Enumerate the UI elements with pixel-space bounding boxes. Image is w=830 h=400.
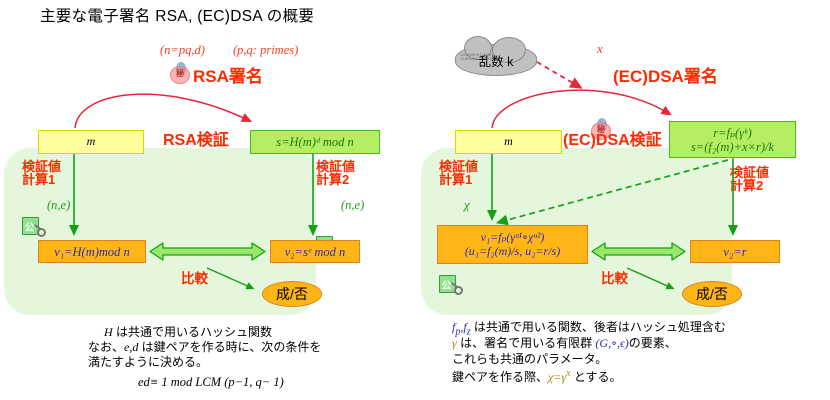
page-title: 主要な電子署名 RSA, (EC)DSA の概要 <box>40 4 314 26</box>
ecdsa-compare-label: 比較 <box>601 267 628 287</box>
ecdsa-v1-line2: (u₁=f₂(m)/s, u₂=r/s) <box>465 245 560 258</box>
ecdsa-note-line-4: 鍵ペアを作る際、χ=γx とする。 <box>452 368 622 385</box>
rsa-pubkey1-label: (n,e) <box>47 198 70 213</box>
rsa-key-params-right: (p,q: primes) <box>233 43 298 58</box>
ecdsa-result-ellipse: 成/否 <box>682 281 742 307</box>
ecdsa-calc2-label: 検証値 計算2 <box>730 166 769 193</box>
ecdsa-secret-x-label: x <box>597 41 603 57</box>
ecdsa-v1-line1: v₁=fₚ(γᵘ¹∘χᵘ²) <box>481 231 545 244</box>
random-cloud-label: 乱数 k <box>456 51 536 70</box>
ecdsa-v1-box: v₁=fₚ(γᵘ¹∘χᵘ²) (u₁=f₂(m)/s, u₂=r/s) <box>437 225 588 264</box>
random-number-cloud: 101100101100011100100110101 乱数 k <box>455 44 537 76</box>
rsa-compare-label: 比較 <box>181 267 208 287</box>
rsa-calc2-label: 検証値 計算2 <box>316 160 355 187</box>
ecdsa-verification-label: (EC)DSA検証 <box>563 126 662 150</box>
rsa-result-ellipse: 成/否 <box>262 281 322 307</box>
rsa-pubkey2-label: (n,e) <box>341 198 364 213</box>
rsa-note-line-1: H は共通で用いるハッシュ関数 <box>104 325 272 340</box>
rsa-v2-box: v₂=sᵉ mod n <box>270 240 360 263</box>
rsa-note-line-3: 満たすように決める。 <box>88 355 208 370</box>
ecdsa-message-box: m <box>455 130 562 154</box>
rsa-signature-box: s=H(m)ᵈ mod n <box>250 130 380 154</box>
rsa-note-line-2: なお、e,d は鍵ペアを作る時に、次の条件を <box>88 340 321 355</box>
rsa-key-params-left: (n=pq,d) <box>160 43 205 58</box>
ecdsa-signature-label: (EC)DSA署名 <box>613 62 718 87</box>
rsa-message-box: m <box>38 130 144 154</box>
ecdsa-note-line-2: γ は、署名で用いる有限群 (G,∘,ϵ)の要素、 <box>452 336 677 351</box>
ecdsa-calc1-label: 検証値 計算1 <box>439 160 478 187</box>
ecdsa-note-line-3: これらも共通のパラメータ。 <box>452 352 607 367</box>
public-key-icon: 公 <box>439 274 458 293</box>
rsa-calc1-label: 検証値 計算1 <box>22 160 61 187</box>
ecdsa-signature-line1: r=fₚ(γᵏ) <box>713 126 752 140</box>
ecdsa-signature-line2: s=(f₂(m)+x×r)/k <box>691 140 774 154</box>
rsa-v1-box: v₁=H(m)mod n <box>38 240 146 263</box>
public-key-icon: 公 <box>22 216 41 235</box>
secret-stamp-icon: 秘 <box>170 64 190 84</box>
rsa-signature-label: RSA署名 <box>193 62 263 87</box>
ecdsa-signature-box: r=fₚ(γᵏ) s=(f₂(m)+x×r)/k <box>669 121 796 158</box>
rsa-note-formula: ed≡ 1 mod LCM (p−1, q− 1) <box>138 375 284 390</box>
rsa-verification-label: RSA検証 <box>163 126 229 150</box>
ecdsa-pubkey1-label: χ <box>464 197 470 213</box>
diagram-canvas: 主要な電子署名 RSA, (EC)DSA の概要 (n=pq,d) (p,q: … <box>0 0 830 400</box>
ecdsa-v2-box: v₂=r <box>690 240 780 263</box>
